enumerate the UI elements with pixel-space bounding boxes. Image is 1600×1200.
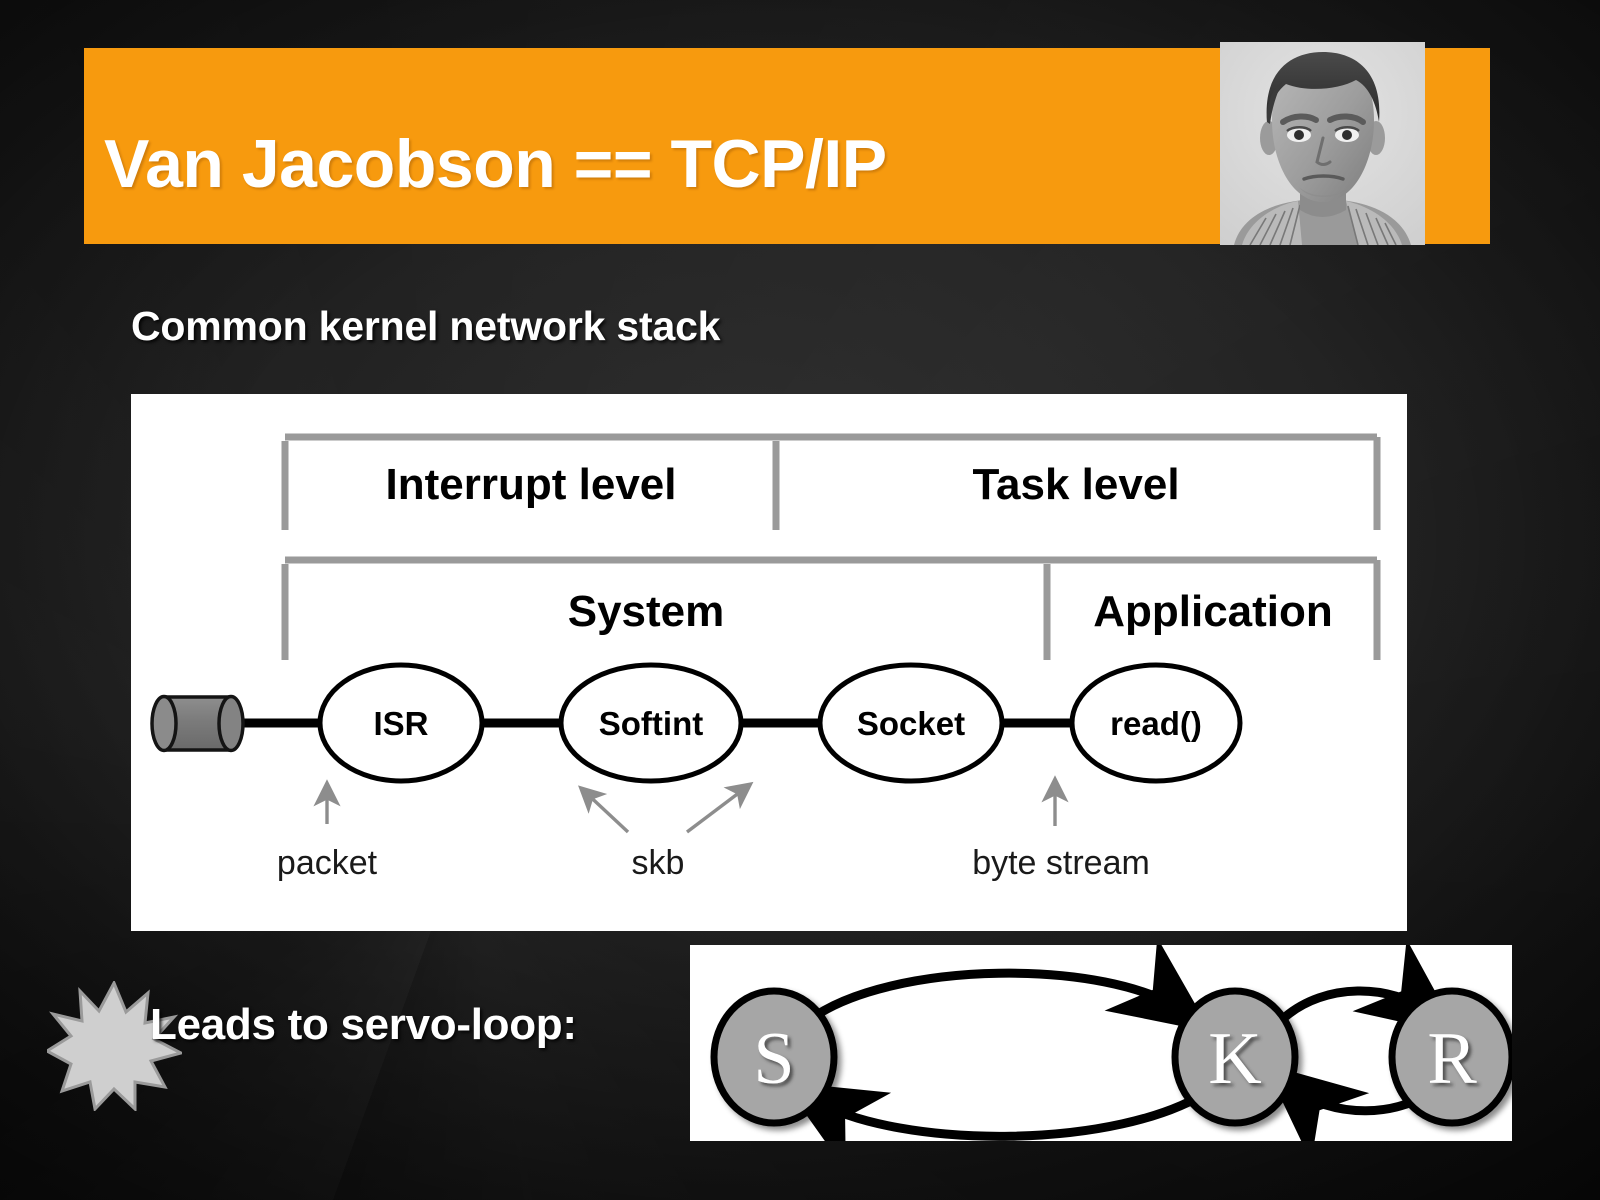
stack-node-label-read: read(): [1110, 705, 1202, 742]
stack-node-label-softint: Softint: [599, 705, 703, 742]
stack-node-label-isr: ISR: [373, 705, 428, 742]
bracket-label-system: System: [568, 587, 725, 636]
page-title: Van Jacobson == TCP/IP: [104, 130, 1204, 198]
annotation-label-byte-stream: byte stream: [972, 844, 1150, 882]
servo-node-label-r: R: [1427, 1018, 1477, 1100]
leads-to-servo-loop-label: Leads to servo-loop:: [150, 1000, 577, 1050]
slide-canvas: Van Jacobson == TCP/IP: [0, 0, 1600, 1200]
servo-node-label-s: S: [753, 1018, 794, 1100]
arrow-skb-softint: [583, 790, 628, 832]
annotation-label-skb: skb: [632, 844, 685, 882]
bracket-label-application: Application: [1093, 587, 1333, 636]
servo-node-label-k: K: [1208, 1018, 1261, 1100]
stack-node-label-socket: Socket: [857, 705, 965, 742]
bracket-label-task-level: Task level: [972, 460, 1179, 509]
kernel-stack-diagram: Interrupt level Task level System Applic…: [131, 394, 1407, 931]
arrow-skb-socket: [687, 786, 748, 832]
portrait-photo-van-jacobson: [1220, 42, 1425, 245]
annotation-label-packet: packet: [277, 844, 378, 882]
network-wire-cylinder-icon: [152, 697, 243, 751]
annotation-arrows: [327, 782, 1055, 832]
servo-loop-diagram: S K R: [690, 945, 1512, 1141]
section-subtitle: Common kernel network stack: [131, 303, 720, 350]
bracket-label-interrupt-level: Interrupt level: [386, 460, 677, 509]
